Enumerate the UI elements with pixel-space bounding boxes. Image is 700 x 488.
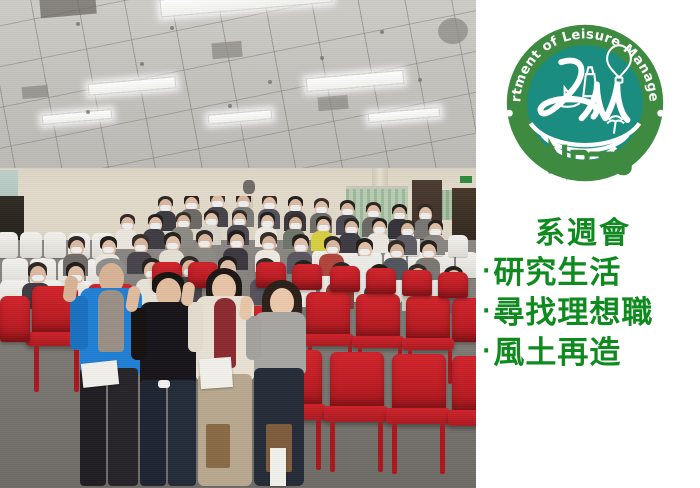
text-block: 系週會 ·研究生活 ·尋找理想職 ·風土再造 (476, 216, 700, 373)
ceiling-vent (22, 85, 49, 99)
exit-sign (460, 176, 472, 183)
wall-speaker (243, 180, 255, 194)
auditorium-photo (0, 0, 476, 488)
info-panel: Department of Leisure Management (476, 0, 700, 488)
bullet-icon: · (482, 299, 493, 324)
bullet-item-1-label: 研究生活 (493, 255, 621, 291)
ceiling-vent (211, 41, 242, 60)
logo-svg: Department of Leisure Management (500, 18, 670, 188)
bullet-item-1: ·研究生活 (476, 253, 700, 293)
bullet-item-2-label: 尋找理想職 (493, 295, 653, 331)
page-title: 系週會 (476, 216, 700, 253)
department-logo: Department of Leisure Management (500, 18, 670, 188)
bullet-item-3: ·風土再造 (476, 333, 700, 373)
bullet-item-3-label: 風土再造 (493, 335, 621, 371)
ceiling-tile-grid (0, 0, 476, 176)
bullet-item-2: ·尋找理想職 (476, 293, 700, 333)
ceiling (0, 0, 476, 176)
bullet-icon: · (482, 339, 493, 364)
ceiling-vent (317, 95, 348, 112)
slide-root: Department of Leisure Management (0, 0, 700, 488)
bullet-icon: · (482, 259, 493, 284)
